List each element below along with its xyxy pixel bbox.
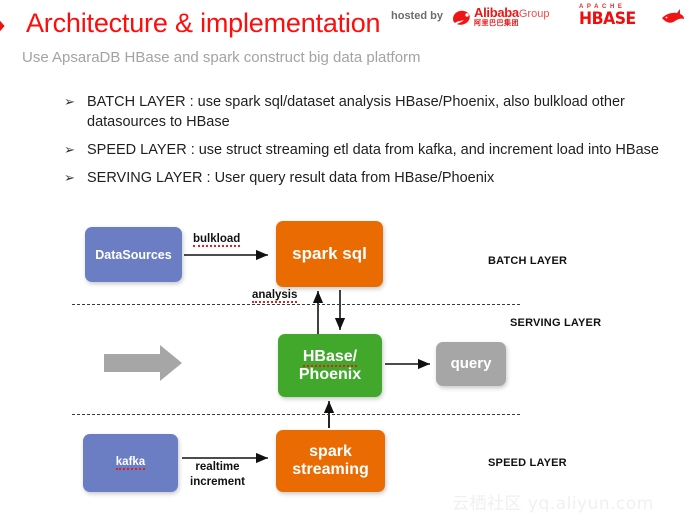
node-spark-streaming[interactable]: spark streaming [276,430,385,492]
edge-label-text: bulkload [193,233,240,247]
node-label: HBase/ Phoenix [299,348,361,384]
edge-label-realtime-increment: realtime increment [190,460,245,490]
alibaba-logo: AlibabaGroup阿里巴巴集团 [450,5,549,31]
node-label-line2: Phoenix [299,366,361,383]
node-label: query [451,356,492,373]
node-label: spark streaming [292,443,368,479]
bullet-item-speed: ➢ SPEED LAYER : use struct streaming etl… [62,140,672,160]
hosted-by-label: hosted by [391,10,443,22]
gray-block-arrow-icon [104,345,182,381]
edge-label-text: analysis [252,289,297,303]
node-label: kafka [116,456,145,471]
watermark: 云栖社区 yq.aliyun.com [452,489,654,514]
node-spark-sql[interactable]: spark sql [276,221,383,287]
bullet-item-batch: ➢ BATCH LAYER : use spark sql/dataset an… [62,92,672,132]
node-query[interactable]: query [436,342,506,386]
divider-serving-speed [72,414,520,415]
edge-label-bulkload: bulkload [193,233,240,245]
node-kafka[interactable]: kafka [83,434,178,492]
bullet-text: SPEED LAYER : use struct streaming etl d… [87,142,659,158]
hbase-name-label: HBASE [579,11,636,28]
node-datasources[interactable]: DataSources [85,227,182,282]
node-label: spark sql [292,244,367,263]
edge-label-analysis: analysis [252,289,297,301]
bullet-marker-icon: ➢ [64,92,75,112]
node-label-line1: spark [309,443,352,460]
bullet-marker-icon: ➢ [64,168,75,188]
alibaba-mark-icon [450,8,474,28]
bullet-list: ➢ BATCH LAYER : use spark sql/dataset an… [62,92,672,196]
alibaba-chinese-name: 阿里巴巴集团 [474,20,549,27]
alibaba-wordmark: AlibabaGroup阿里巴巴集团 [474,5,549,27]
page-title: Architecture & implementation [26,8,380,39]
node-label: DataSources [95,248,171,262]
layer-label-serving: SERVING LAYER [510,317,601,329]
red-chevron-icon [0,5,16,47]
bullet-marker-icon: ➢ [64,140,75,160]
page-subtitle: Use ApsaraDB HBase and spark construct b… [22,49,421,66]
bullet-text: SERVING LAYER : User query result data f… [87,170,494,186]
node-label-line1: HBase/ [303,348,357,367]
layer-label-batch: BATCH LAYER [488,255,567,267]
edge-label-line1: realtime [195,461,239,473]
apache-hbase-logo: APACHE HBASE [579,4,641,28]
bullet-item-serving: ➢ SERVING LAYER : User query result data… [62,168,672,188]
slide-header: Architecture & implementation Use Apsara… [0,0,692,82]
alibaba-name: Alibaba [474,5,519,20]
divider-batch-serving [72,304,520,305]
bullet-text: BATCH LAYER : use spark sql/dataset anal… [87,94,625,130]
node-label-line2: streaming [292,461,368,478]
hbase-orca-icon [661,8,685,26]
architecture-diagram: DataSources spark sql HBase/ Phoenix que… [0,212,692,520]
node-hbase-phoenix[interactable]: HBase/ Phoenix [278,334,382,397]
edge-label-line2: increment [190,476,245,488]
alibaba-group: Group [519,8,550,20]
layer-label-speed: SPEED LAYER [488,457,567,469]
